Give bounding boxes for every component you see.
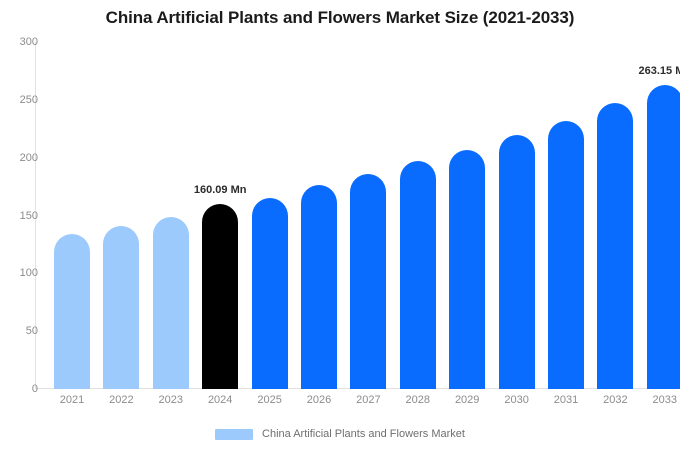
bar-slot	[493, 42, 541, 389]
y-axis-tick-label: 200	[8, 152, 38, 164]
plot-area: 160.09 Mn263.15 Mn	[35, 42, 680, 389]
bar-value-label-2033: 263.15 Mn	[639, 65, 680, 77]
y-axis-tick-label: 50	[8, 325, 38, 337]
x-axis-tick-label: 2030	[493, 394, 541, 406]
x-axis-tick-label: 2023	[147, 394, 195, 406]
bar-value-label-2024: 160.09 Mn	[194, 184, 247, 196]
bar-slot	[48, 42, 96, 389]
legend-swatch	[215, 429, 253, 440]
bar-2024[interactable]	[202, 204, 238, 389]
x-axis-tick-label: 2031	[542, 394, 590, 406]
bar-2026[interactable]	[301, 185, 337, 389]
bars-layer: 160.09 Mn263.15 Mn	[35, 42, 680, 389]
x-axis-tick-label: 2024	[196, 394, 244, 406]
bar-2021[interactable]	[54, 234, 90, 389]
bar-2027[interactable]	[350, 174, 386, 389]
x-axis-tick-label: 2022	[97, 394, 145, 406]
y-axis-tick-label: 250	[8, 94, 38, 106]
bar-slot	[344, 42, 392, 389]
x-axis-tick-label: 2029	[443, 394, 491, 406]
x-axis-tick-label: 2021	[48, 394, 96, 406]
bar-slot	[542, 42, 590, 389]
bar-slot: 263.15 Mn	[641, 42, 680, 389]
bar-2031[interactable]	[548, 121, 584, 389]
bar-2033[interactable]	[647, 85, 680, 389]
bar-slot	[591, 42, 639, 389]
bar-2029[interactable]	[449, 150, 485, 389]
bar-slot	[443, 42, 491, 389]
y-axis-tick-label: 150	[8, 210, 38, 222]
x-axis-tick-label: 2027	[344, 394, 392, 406]
bar-slot	[246, 42, 294, 389]
x-axis-tick-label: 2033	[641, 394, 680, 406]
bar-2032[interactable]	[597, 103, 633, 389]
page-title: China Artificial Plants and Flowers Mark…	[0, 8, 680, 28]
y-axis-tick-label: 0	[8, 383, 38, 395]
bar-slot	[295, 42, 343, 389]
x-axis-tick-label: 2025	[246, 394, 294, 406]
bar-2022[interactable]	[103, 226, 139, 389]
chart-legend: China Artificial Plants and Flowers Mark…	[0, 428, 680, 440]
x-axis-tick-label: 2028	[394, 394, 442, 406]
bar-chart: China Artificial Plants and Flowers Mark…	[0, 0, 680, 450]
y-axis-tick-label: 300	[8, 36, 38, 48]
x-axis-tick-label: 2026	[295, 394, 343, 406]
bar-2023[interactable]	[153, 217, 189, 389]
x-axis-tick-label: 2032	[591, 394, 639, 406]
y-axis-tick-label: 100	[8, 267, 38, 279]
bar-slot	[97, 42, 145, 389]
bar-slot	[147, 42, 195, 389]
bar-2028[interactable]	[400, 161, 436, 389]
bar-slot: 160.09 Mn	[196, 42, 244, 389]
bar-2025[interactable]	[252, 198, 288, 389]
bar-2030[interactable]	[499, 135, 535, 389]
legend-label: China Artificial Plants and Flowers Mark…	[262, 428, 465, 440]
bar-slot	[394, 42, 442, 389]
